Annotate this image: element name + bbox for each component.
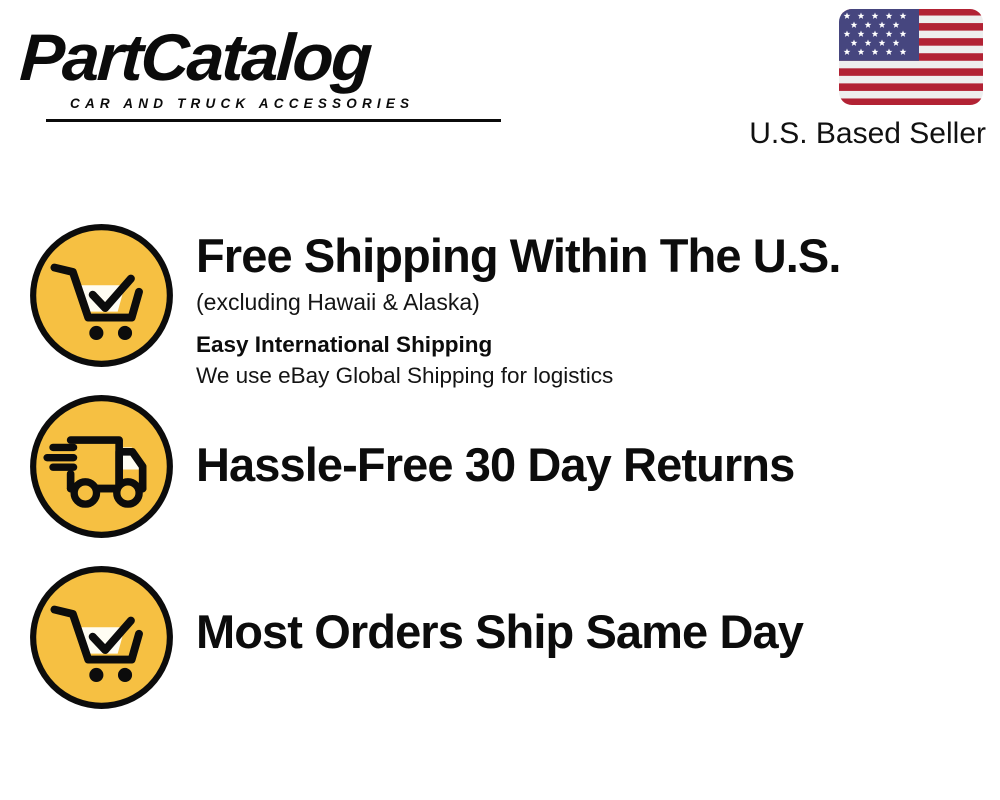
us-flag-icon <box>838 8 984 106</box>
delivery-truck-icon <box>28 393 175 540</box>
us-based-seller-label: U.S. Based Seller <box>716 117 986 151</box>
feature-text-cell: Free Shipping Within The U.S. (excluding… <box>196 222 1000 391</box>
feature-list: Free Shipping Within The U.S. (excluding… <box>0 222 1000 735</box>
page-header: PartCatalog CAR AND TRUCK ACCESSORIES <box>0 0 1000 175</box>
feature-icon-cell <box>0 222 196 369</box>
us-based-seller-badge: U.S. Based Seller <box>716 8 986 151</box>
feature-text-cell: Hassle-Free 30 Day Returns <box>196 393 1000 491</box>
feature-title: Most Orders Ship Same Day <box>196 606 1000 658</box>
feature-secondary-title: Easy International Shipping <box>196 330 1000 360</box>
brand-wordmark: PartCatalog <box>18 22 501 92</box>
feature-subtitle: (excluding Hawaii & Alaska) <box>196 286 1000 318</box>
feature-title: Free Shipping Within The U.S. <box>196 230 1000 282</box>
feature-title: Hassle-Free 30 Day Returns <box>196 439 1000 491</box>
feature-secondary-note: We use eBay Global Shipping for logistic… <box>196 361 1000 391</box>
brand-underline-rule <box>46 119 501 122</box>
feature-text-cell: Most Orders Ship Same Day <box>196 564 1000 658</box>
brand-logo[interactable]: PartCatalog CAR AND TRUCK ACCESSORIES <box>22 22 492 117</box>
feature-row: Most Orders Ship Same Day <box>0 564 1000 735</box>
feature-row: Hassle-Free 30 Day Returns <box>0 393 1000 564</box>
brand-tagline: CAR AND TRUCK ACCESSORIES <box>70 96 414 111</box>
shopping-cart-check-icon <box>28 222 175 369</box>
shopping-cart-check-icon <box>28 564 175 711</box>
feature-icon-cell <box>0 393 196 540</box>
feature-icon-cell <box>0 564 196 711</box>
feature-row: Free Shipping Within The U.S. (excluding… <box>0 222 1000 393</box>
